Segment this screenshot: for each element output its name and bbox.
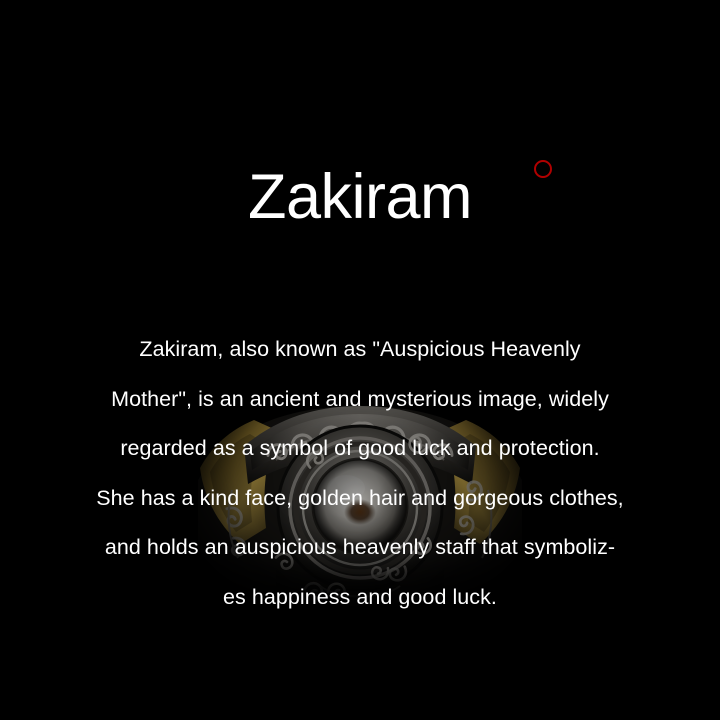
description-line: She has a kind face, golden hair and gor… <box>36 474 684 524</box>
description-line: and holds an auspicious heavenly staff t… <box>36 523 684 573</box>
red-circle-marker-icon[interactable] <box>534 160 552 178</box>
description-line: Zakiram, also known as "Auspicious Heave… <box>36 325 684 375</box>
description-line: es happiness and good luck. <box>36 573 684 623</box>
description-line: Mother", is an ancient and mysterious im… <box>36 375 684 425</box>
page-root: Zakiram Zakiram, also known as "Auspicio… <box>0 0 720 720</box>
description-text: Zakiram, also known as "Auspicious Heave… <box>36 325 684 622</box>
description-line: regarded as a symbol of good luck and pr… <box>36 424 684 474</box>
page-title: Zakiram <box>0 161 720 233</box>
